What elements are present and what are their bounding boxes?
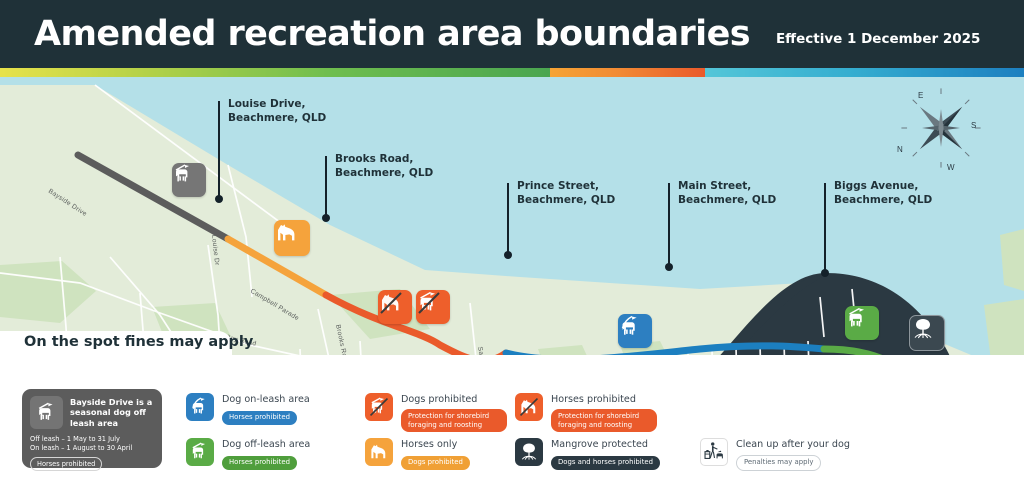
- map-icon-mangrove-protected[interactable]: [909, 315, 945, 351]
- callout-stem: [668, 183, 670, 267]
- legend-icon-tile: [186, 393, 214, 421]
- legend-icon-tile: [365, 393, 393, 421]
- dog-off-leash-icon: [845, 306, 871, 332]
- page-header: Amended recreation area boundaries Effec…: [0, 0, 1024, 68]
- legend-label: Horses prohibited: [551, 394, 657, 406]
- seasonal-card-top: Bayside Drive is a seasonal dog off leas…: [30, 396, 154, 429]
- legend-text: Horses prohibited Protection for shorebi…: [551, 393, 657, 432]
- compass-letter-w: W: [947, 163, 955, 172]
- legend-item-horses-prohibited[interactable]: Horses prohibited Protection for shorebi…: [515, 393, 685, 432]
- map-icon-dog-on-leash[interactable]: [618, 314, 652, 348]
- legend-label: Mangrove protected: [551, 439, 660, 451]
- dog-off-leash-icon: [35, 401, 59, 425]
- legend-badge: Dogs and horses prohibited: [551, 456, 660, 470]
- callout-stem: [325, 156, 327, 218]
- seasonal-card-badge: Horses prohibited: [30, 457, 102, 471]
- legend-item-dog-off-leash[interactable]: Dog off-leash area Horses prohibited: [186, 438, 346, 470]
- callout-line1: Main Street,: [678, 179, 776, 193]
- dog-on-leash-icon: [618, 314, 644, 340]
- legend-text: Dog on-leash area Horses prohibited: [222, 393, 310, 425]
- callout-label: Brooks Road, Beachmere, QLD: [335, 152, 433, 180]
- horse-icon: [274, 220, 300, 246]
- compass-letter-n: N: [897, 145, 903, 154]
- legend-text: Mangrove protected Dogs and horses prohi…: [551, 438, 660, 470]
- clean-up-after-dog-icon: [703, 441, 725, 463]
- stripe-segment-orange: [550, 68, 705, 77]
- compass-letter-e: E: [918, 91, 923, 100]
- legend-item-clean-up-after-your-dog[interactable]: Clean up after your dog Penalties may ap…: [700, 438, 900, 471]
- legend-badge: Dogs prohibited: [401, 456, 470, 470]
- callout-dot: [665, 263, 673, 271]
- legend-icon-tile: [186, 438, 214, 466]
- seasonal-card-heading: Bayside Drive is a seasonal dog off leas…: [70, 396, 154, 429]
- legend-icon-tile: [515, 438, 543, 466]
- legend-badge: Penalties may apply: [736, 455, 821, 471]
- legend-text: Dogs prohibited Protection for shorebird…: [401, 393, 507, 432]
- horse-prohibited-icon: [518, 396, 540, 418]
- legend-badge: Protection for shorebird foraging and ro…: [551, 409, 657, 432]
- seasonal-card-onleash-dates: On leash – 1 August to 30 April: [30, 444, 154, 453]
- legend-panel: On the spot fines may apply Bayside Driv…: [0, 355, 1024, 479]
- callout-line2: Beachmere, QLD: [228, 111, 326, 125]
- legend-title: On the spot fines may apply: [24, 334, 253, 350]
- legend-badge: Horses prohibited: [222, 411, 297, 425]
- legend-icon-tile: [515, 393, 543, 421]
- dog-off-leash-icon: [189, 441, 211, 463]
- compass-rose: E S N W: [895, 82, 987, 174]
- dog-prohibited-icon: [416, 290, 442, 316]
- callout-line2: Beachmere, QLD: [678, 193, 776, 207]
- legend-item-dog-on-leash[interactable]: Dog on-leash area Horses prohibited: [186, 393, 346, 425]
- seasonal-card-dates: Off leash – 1 May to 31 July On leash – …: [30, 435, 154, 452]
- callout-dot: [215, 195, 223, 203]
- effective-date: Effective 1 December 2025: [776, 31, 980, 47]
- horse-icon: [368, 441, 390, 463]
- callout-line2: Beachmere, QLD: [517, 193, 615, 207]
- callout-line2: Beachmere, QLD: [834, 193, 932, 207]
- seasonal-dog-off-leash-card[interactable]: Bayside Drive is a seasonal dog off leas…: [22, 389, 162, 468]
- callout-line1: Prince Street,: [517, 179, 615, 193]
- callout-label: Louise Drive, Beachmere, QLD: [228, 97, 326, 125]
- stripe-segment-blue: [705, 68, 1024, 77]
- legend-item-mangrove-protected[interactable]: Mangrove protected Dogs and horses prohi…: [515, 438, 695, 470]
- dog-prohibited-icon: [368, 396, 390, 418]
- mangrove-icon: [910, 316, 936, 342]
- legend-text: Horses only Dogs prohibited: [401, 438, 470, 470]
- page-title: Amended recreation area boundaries: [34, 14, 750, 54]
- map-icon-dog-off-leash[interactable]: [845, 306, 879, 340]
- legend-item-horses-only[interactable]: Horses only Dogs prohibited: [365, 438, 535, 470]
- map-icon-dogs-prohibited[interactable]: [416, 290, 450, 324]
- compass-letter-s: S: [971, 121, 976, 130]
- callout-line1: Biggs Avenue,: [834, 179, 932, 193]
- legend-label: Dog off-leash area: [222, 439, 310, 451]
- horse-prohibited-icon: [378, 290, 404, 316]
- legend-label: Horses only: [401, 439, 470, 451]
- legend-icon-tile: [365, 438, 393, 466]
- stripe-segment-green: [0, 68, 550, 77]
- callout-stem: [218, 101, 220, 199]
- callout-line2: Beachmere, QLD: [335, 166, 433, 180]
- dog-on-leash-icon: [189, 396, 211, 418]
- legend-text: Clean up after your dog Penalties may ap…: [736, 438, 850, 471]
- callout-line1: Brooks Road,: [335, 152, 433, 166]
- legend-label: Dog on-leash area: [222, 394, 310, 406]
- map-icon-horses-only[interactable]: [274, 220, 310, 256]
- legend-label: Dogs prohibited: [401, 394, 507, 406]
- legend-item-dogs-prohibited[interactable]: Dogs prohibited Protection for shorebird…: [365, 393, 535, 432]
- callout-dot: [322, 214, 330, 222]
- callout-dot: [821, 269, 829, 277]
- legend-text: Dog off-leash area Horses prohibited: [222, 438, 310, 470]
- legend-icon-tile: [700, 438, 728, 466]
- color-stripe: [0, 68, 1024, 77]
- seasonal-card-icon-tile: [30, 396, 63, 429]
- callout-stem: [824, 183, 826, 273]
- dog-off-leash-icon: [172, 163, 196, 187]
- legend-badge: Horses prohibited: [222, 456, 297, 470]
- legend-label: Clean up after your dog: [736, 439, 850, 451]
- callout-line1: Louise Drive,: [228, 97, 326, 111]
- callout-label: Main Street, Beachmere, QLD: [678, 179, 776, 207]
- legend-badge: Protection for shorebird foraging and ro…: [401, 409, 507, 432]
- map-icon-dog-off-leash-seasonal[interactable]: [172, 163, 206, 197]
- callout-label: Biggs Avenue, Beachmere, QLD: [834, 179, 932, 207]
- mangrove-icon: [518, 441, 540, 463]
- callout-label: Prince Street, Beachmere, QLD: [517, 179, 615, 207]
- seasonal-card-offleash-dates: Off leash – 1 May to 31 July: [30, 435, 154, 444]
- callout-dot: [504, 251, 512, 259]
- callout-stem: [507, 183, 509, 255]
- map-icon-horses-prohibited[interactable]: [378, 290, 412, 324]
